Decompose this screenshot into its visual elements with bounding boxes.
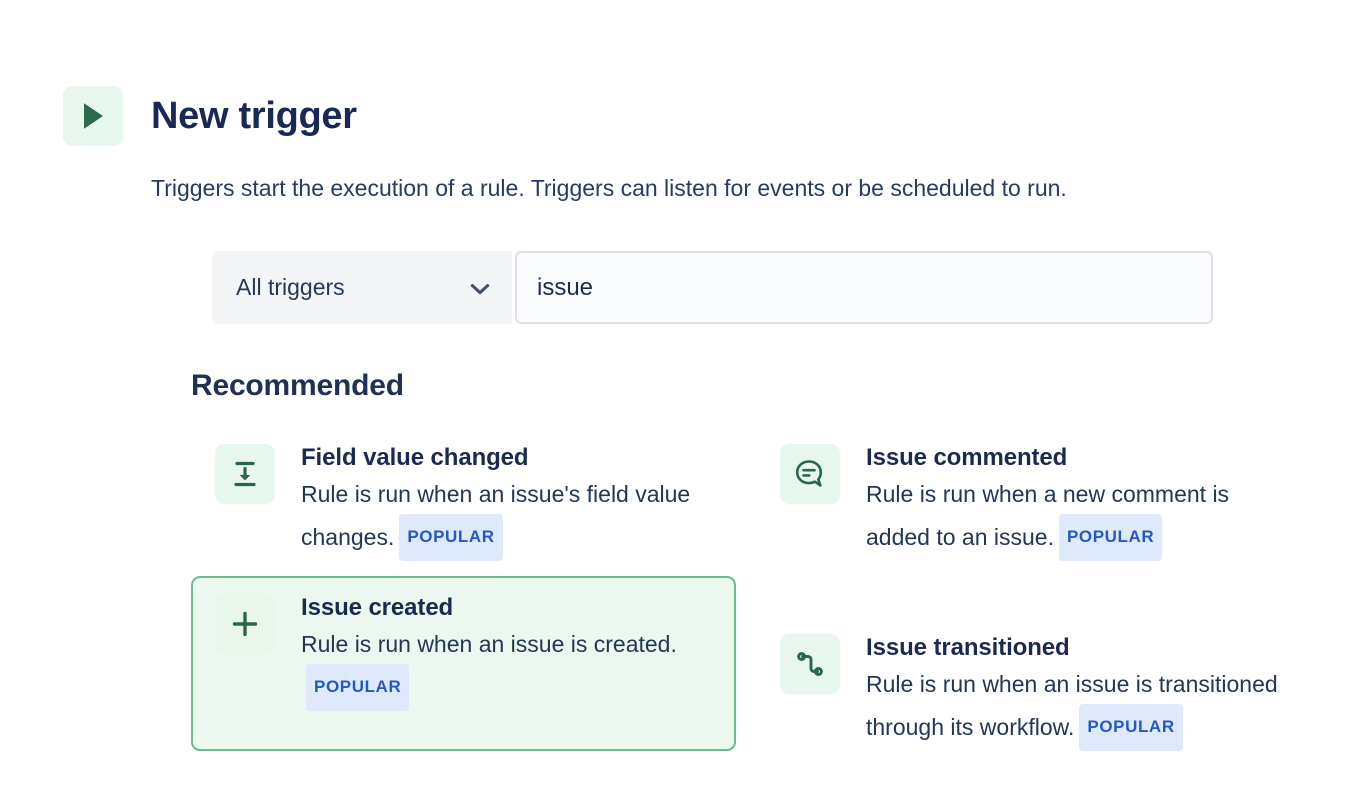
dropdown-selected-label: All triggers (236, 274, 345, 301)
search-box[interactable] (515, 251, 1213, 324)
trigger-grid-column-right: Issue commented Rule is run when a new c… (756, 426, 1301, 806)
trigger-card-body: Issue created Rule is run when an issue … (301, 592, 718, 711)
new-trigger-page: New trigger Triggers start the execution… (0, 0, 1356, 802)
trigger-card-field-value-changed[interactable]: Field value changed Rule is run when an … (191, 426, 736, 576)
trigger-card-description-text: Rule is run when an issue is transitione… (866, 671, 1278, 740)
trigger-card-description: Rule is run when an issue is transitione… (866, 664, 1283, 751)
play-triangle-icon (63, 86, 123, 146)
branch-path-icon (780, 634, 840, 694)
page-title: New trigger (151, 94, 357, 138)
trigger-card-title: Issue created (301, 592, 718, 624)
trigger-card-body: Field value changed Rule is run when an … (301, 442, 718, 561)
section-title-recommended: Recommended (191, 366, 404, 406)
trigger-card-body: Issue transitioned Rule is run when an i… (866, 632, 1283, 751)
filter-row: All triggers (212, 251, 1213, 324)
trigger-card-description-text: Rule is run when an issue is created. (301, 631, 677, 657)
page-description: Triggers start the execution of a rule. … (151, 172, 1067, 204)
trigger-card-title: Issue commented (866, 442, 1283, 474)
trigger-card-description: Rule is run when an issue's field value … (301, 474, 718, 561)
page-header: New trigger (63, 86, 357, 146)
popular-badge: POPULAR (1059, 514, 1162, 561)
plus-icon (215, 594, 275, 654)
move-down-between-lines-icon (215, 444, 275, 504)
trigger-card-title: Field value changed (301, 442, 718, 474)
trigger-card-issue-created[interactable]: Issue created Rule is run when an issue … (191, 576, 736, 751)
trigger-card-issue-transitioned[interactable]: Issue transitioned Rule is run when an i… (756, 616, 1301, 806)
trigger-card-title: Issue transitioned (866, 632, 1283, 664)
comment-bubble-icon (780, 444, 840, 504)
trigger-card-description: Rule is run when a new comment is added … (866, 474, 1283, 561)
popular-badge: POPULAR (306, 664, 409, 711)
trigger-card-body: Issue commented Rule is run when a new c… (866, 442, 1283, 561)
search-input[interactable] (537, 274, 1191, 302)
trigger-card-issue-commented[interactable]: Issue commented Rule is run when a new c… (756, 426, 1301, 616)
trigger-grid-column-left: Field value changed Rule is run when an … (191, 426, 736, 751)
chevron-down-icon (470, 282, 490, 294)
popular-badge: POPULAR (1079, 704, 1182, 751)
popular-badge: POPULAR (399, 514, 502, 561)
trigger-card-description-text: Rule is run when a new comment is added … (866, 481, 1229, 550)
trigger-type-dropdown[interactable]: All triggers (212, 251, 512, 324)
trigger-card-description: Rule is run when an issue is created.POP… (301, 624, 718, 711)
